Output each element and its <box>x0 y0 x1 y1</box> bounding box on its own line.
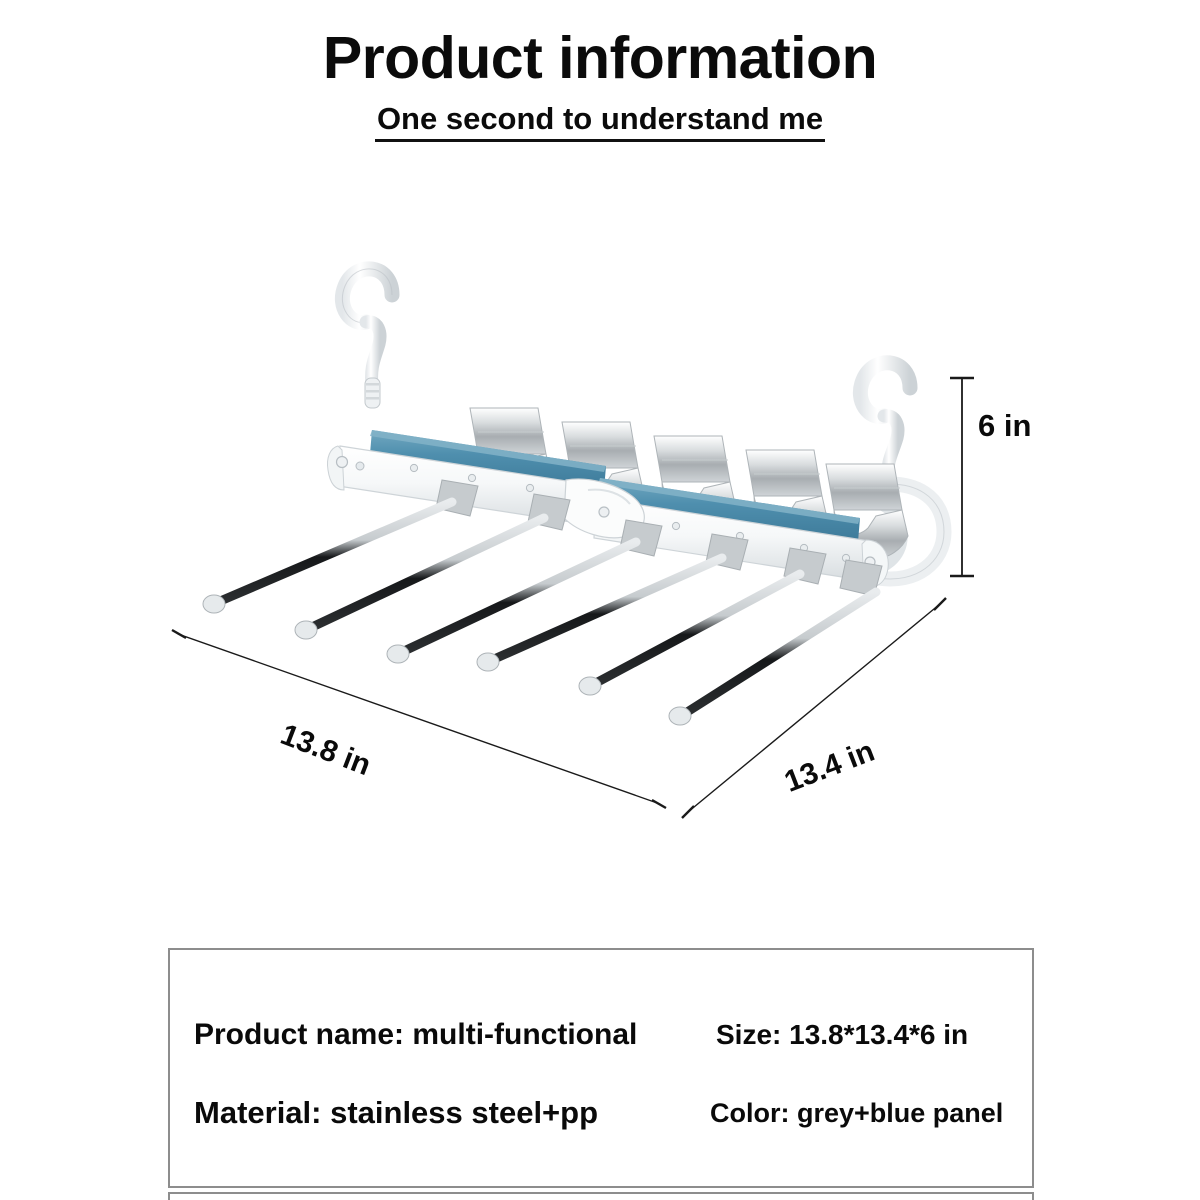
hanger-hook-left <box>342 269 392 408</box>
spec-size: Size: 13.8*13.4*6 in <box>716 1012 968 1058</box>
spec-color: Color: grey+blue panel <box>710 1090 1003 1136</box>
rod-1 <box>203 502 452 613</box>
page-header: Product information One second to unders… <box>0 28 1200 142</box>
product-information-page: Product information One second to unders… <box>0 0 1200 1200</box>
rod-2 <box>295 518 544 639</box>
rod-6 <box>669 592 876 725</box>
dimension-height-label: 6 in <box>978 408 1031 444</box>
product-spec-box-secondary <box>168 1192 1034 1200</box>
page-title: Product information <box>0 28 1200 90</box>
spec-material: Material: stainless steel+pp <box>194 1090 598 1136</box>
spec-row-1: Product name: multi-functional Size: 13.… <box>170 1012 1032 1058</box>
rod-4 <box>477 558 722 671</box>
product-photo <box>0 240 1200 880</box>
spec-row-2: Material: stainless steel+pp Color: grey… <box>170 1090 1032 1136</box>
product-spec-box: Product name: multi-functional Size: 13.… <box>168 948 1034 1188</box>
page-subtitle: One second to understand me <box>375 102 825 136</box>
dimension-width <box>172 630 666 808</box>
subtitle-underline <box>375 139 825 142</box>
dimension-height <box>950 378 974 576</box>
rod-3 <box>387 542 636 663</box>
spec-product-name: Product name: multi-functional <box>194 1012 637 1058</box>
rod-5 <box>579 574 800 695</box>
subtitle-group: One second to understand me <box>375 102 825 142</box>
